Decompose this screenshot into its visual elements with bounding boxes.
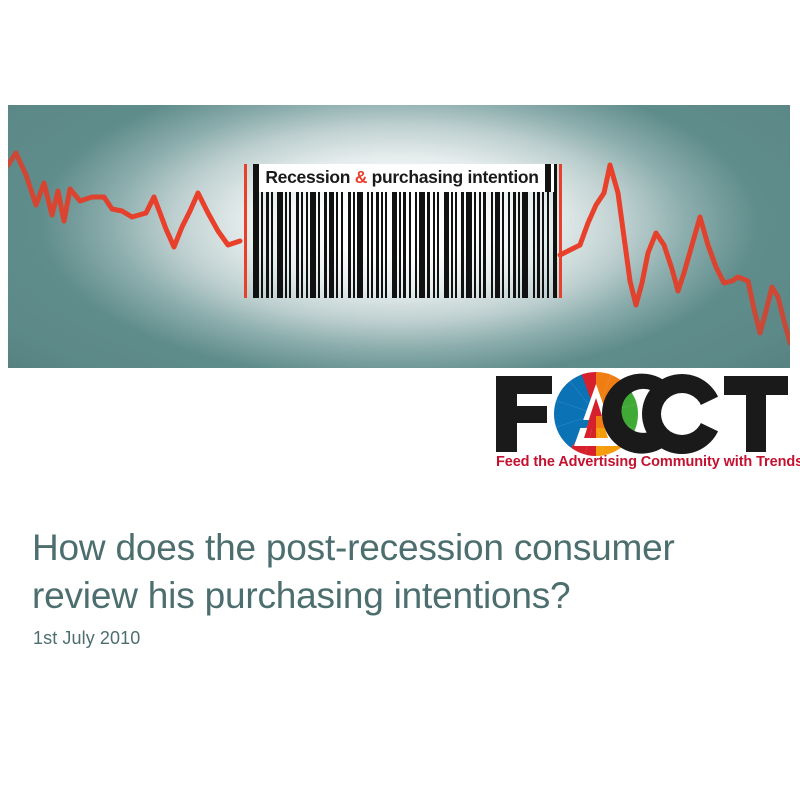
logo-letter-f (496, 376, 552, 452)
barcode-title-ampersand: & (355, 167, 367, 187)
barcode-left-rule (244, 164, 247, 298)
barcode-graphic: Recession & purchasing intention (244, 164, 562, 298)
fact-logo: Feed the Advertising Community with Tren… (492, 370, 790, 480)
fact-logo-tagline: Feed the Advertising Community with Tren… (496, 455, 790, 470)
barcode-title-bar: Recession & purchasing intention (253, 164, 557, 192)
barcode-title-prefix: Recession (265, 167, 354, 187)
barcode-title-suffix: purchasing intention (367, 167, 539, 187)
page-title: How does the post-recession consumer rev… (32, 524, 762, 620)
fact-wordmark (492, 370, 790, 458)
barcode-right-rule (559, 164, 562, 298)
barcode-title-text: Recession & purchasing intention (259, 169, 545, 187)
barcode-title-cap-right-thin (554, 164, 557, 192)
logo-letter-c (602, 374, 732, 454)
logo-letter-t (724, 376, 788, 452)
page-date: 1st July 2010 (33, 628, 140, 649)
barcode-bars (253, 192, 557, 298)
fact-logo-mark (492, 370, 790, 458)
barcode-title-cap-right (545, 164, 551, 192)
